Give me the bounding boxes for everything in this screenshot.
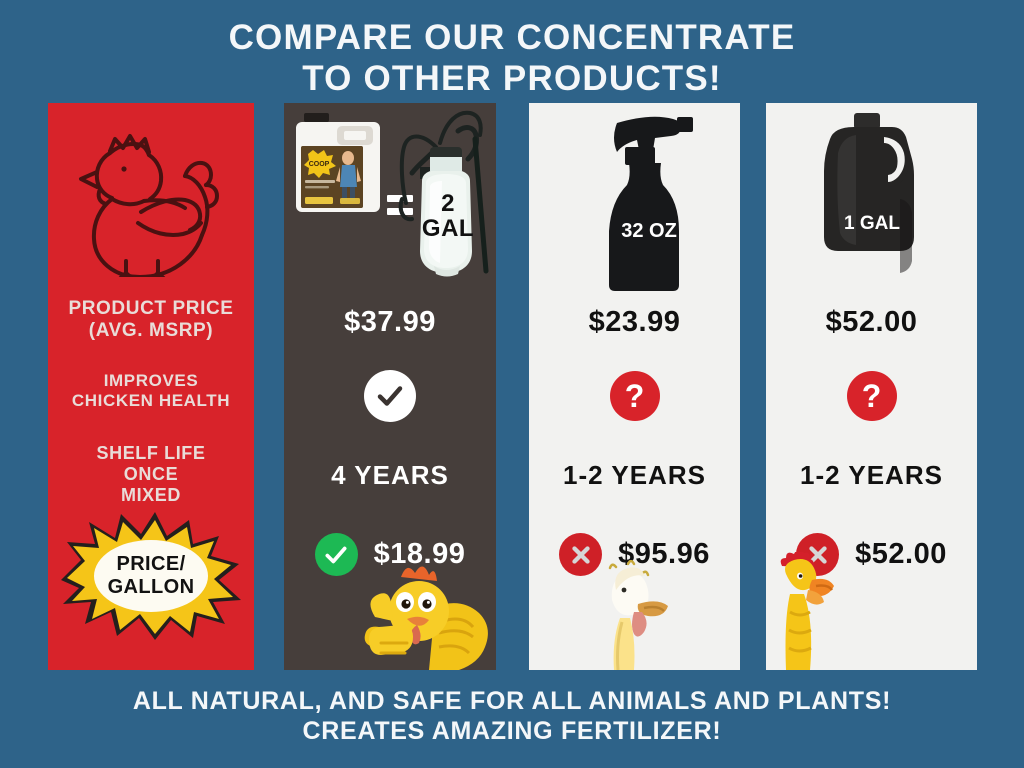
- question-red-icon: ?: [847, 371, 897, 421]
- spray-bottle-icon: 32 OZ: [529, 103, 740, 293]
- spray-bottle-shelf-life: 1-2 YEARS: [529, 460, 740, 491]
- x-red-icon: [559, 533, 602, 576]
- x-red-icon: [796, 533, 839, 576]
- gallon-jug-icon: 1 GAL: [766, 103, 977, 293]
- row-label-shelf-life: SHELF LIFE ONCE MIXED: [48, 443, 254, 507]
- price-per-gallon-burst-badge: PRICE/ GALLON: [51, 508, 251, 643]
- svg-text:COOP: COOP: [309, 161, 330, 168]
- gallon-jug-price-per-gallon-value: $52.00: [855, 538, 947, 571]
- spray-bottle-price-per-gallon-value: $95.96: [618, 538, 710, 571]
- footer-tagline: ALL NATURAL, AND SAFE FOR ALL ANIMALS AN…: [0, 686, 1024, 746]
- column-competitor-spray-bottle: 32 OZ $23.99 ? 1-2 YEARS $95.96: [529, 103, 740, 670]
- row-label-product-price-line-1: PRODUCT PRICE: [68, 298, 233, 319]
- column-our-concentrate: COOP: [284, 103, 496, 670]
- row-labels-column: PRODUCT PRICE (AVG. MSRP) IMPROVES CHICK…: [48, 103, 254, 670]
- our-size-label: 2 GAL: [410, 191, 486, 241]
- gallon-jug-size-label: 1 GAL: [844, 213, 900, 234]
- row-label-chicken-health: IMPROVES CHICKEN HEALTH: [48, 371, 254, 411]
- gallon-jug-price-per-gallon-row: $52.00: [766, 533, 977, 576]
- row-label-chicken-health-line-2: CHICKEN HEALTH: [72, 391, 230, 410]
- burst-badge-text: PRICE/ GALLON: [51, 508, 251, 643]
- spray-bottle-health-badge: ?: [529, 371, 740, 421]
- gallon-jug-health-badge: ?: [766, 371, 977, 421]
- check-green-icon: [315, 533, 358, 576]
- spray-bottle-art: 32 OZ: [529, 103, 740, 293]
- row-label-chicken-health-line-1: IMPROVES: [104, 371, 199, 390]
- spray-bottle-price: $23.99: [529, 306, 740, 339]
- chicken-line-art-icon: [48, 113, 254, 291]
- comparison-table: PRODUCT PRICE (AVG. MSRP) IMPROVES CHICK…: [0, 103, 1024, 670]
- our-size-label-unit: GAL: [422, 215, 474, 242]
- gallon-jug-art: 1 GAL: [766, 103, 977, 293]
- spray-bottle-price-per-gallon-row: $95.96: [529, 533, 740, 576]
- our-product-price: $37.99: [284, 306, 496, 339]
- sick-chicken-mascot: [584, 560, 694, 670]
- our-health-badge: [284, 370, 496, 422]
- row-label-shelf-life-line-1: SHELF LIFE: [97, 443, 206, 463]
- gallon-jug-price: $52.00: [766, 306, 977, 339]
- row-label-product-price: PRODUCT PRICE (AVG. MSRP): [48, 298, 254, 343]
- competitor-size-label: 32 OZ: [621, 220, 677, 242]
- footer-tagline-line-1: ALL NATURAL, AND SAFE FOR ALL ANIMALS AN…: [133, 687, 891, 715]
- burst-badge-line-2: GALLON: [108, 576, 195, 598]
- column-competitor-gallon-jug: 1 GAL $52.00 ? 1-2 YEARS $52.00: [766, 103, 977, 670]
- footer-tagline-line-2: CREATES AMAZING FERTILIZER!: [0, 716, 1024, 746]
- page-title-line-1: COMPARE OUR CONCENTRATE: [229, 18, 796, 57]
- our-product-art: COOP: [284, 103, 496, 293]
- our-price-per-gallon-row: $18.99: [284, 533, 496, 576]
- row-label-shelf-life-line-3: MIXED: [121, 485, 181, 505]
- row-label-product-price-line-2: (AVG. MSRP): [89, 320, 213, 341]
- our-size-label-value: 2: [441, 190, 455, 217]
- gallon-jug-shelf-life: 1-2 YEARS: [766, 460, 977, 491]
- row-label-shelf-life-line-2: ONCE: [124, 464, 178, 484]
- check-white-icon: [364, 370, 416, 422]
- burst-badge-line-1: PRICE/: [116, 553, 185, 575]
- our-shelf-life: 4 YEARS: [284, 460, 496, 491]
- page-title: COMPARE OUR CONCENTRATE TO OTHER PRODUCT…: [0, 18, 1024, 99]
- question-red-icon: ?: [610, 371, 660, 421]
- our-price-per-gallon-value: $18.99: [374, 538, 466, 571]
- page-title-line-2: TO OTHER PRODUCTS!: [0, 59, 1024, 100]
- concentrate-jug-icon: COOP: [296, 110, 384, 215]
